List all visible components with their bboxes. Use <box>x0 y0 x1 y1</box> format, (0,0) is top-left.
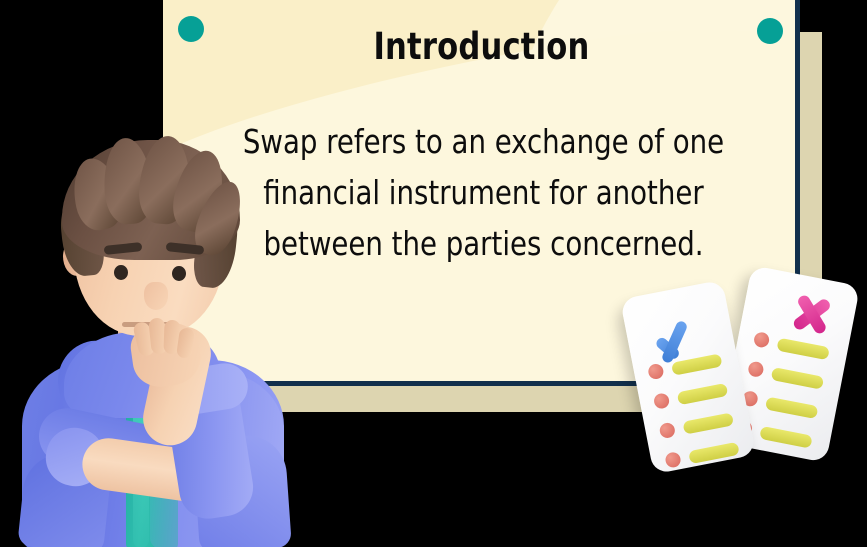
character-eye-right <box>172 266 186 281</box>
checklist-bar <box>688 442 740 464</box>
checklist-card-check <box>620 280 756 475</box>
checklist-cards-illustration <box>630 268 867 498</box>
checklist-bar <box>759 426 813 449</box>
thinking-character-illustration <box>0 136 300 547</box>
check-mark-icon <box>645 303 698 360</box>
checklist-bar <box>776 338 830 361</box>
checklist-dot <box>659 422 677 440</box>
checklist-bar <box>682 412 734 434</box>
checklist-dot <box>747 360 765 378</box>
checklist-dot <box>753 331 771 349</box>
character-nose <box>144 282 168 310</box>
page-title: Introduction <box>188 28 774 65</box>
checklist-bar <box>765 396 819 419</box>
checklist-dot <box>647 363 665 381</box>
checklist-bar <box>671 353 723 375</box>
checklist-dot <box>653 392 671 410</box>
checklist-bar <box>771 367 825 390</box>
character-eye-left <box>114 265 128 280</box>
checklist-bar <box>677 383 729 405</box>
cross-mark-icon <box>788 288 840 342</box>
slide-canvas: Introduction Swap refers to an exchange … <box>0 0 867 547</box>
checklist-dot <box>664 451 682 469</box>
